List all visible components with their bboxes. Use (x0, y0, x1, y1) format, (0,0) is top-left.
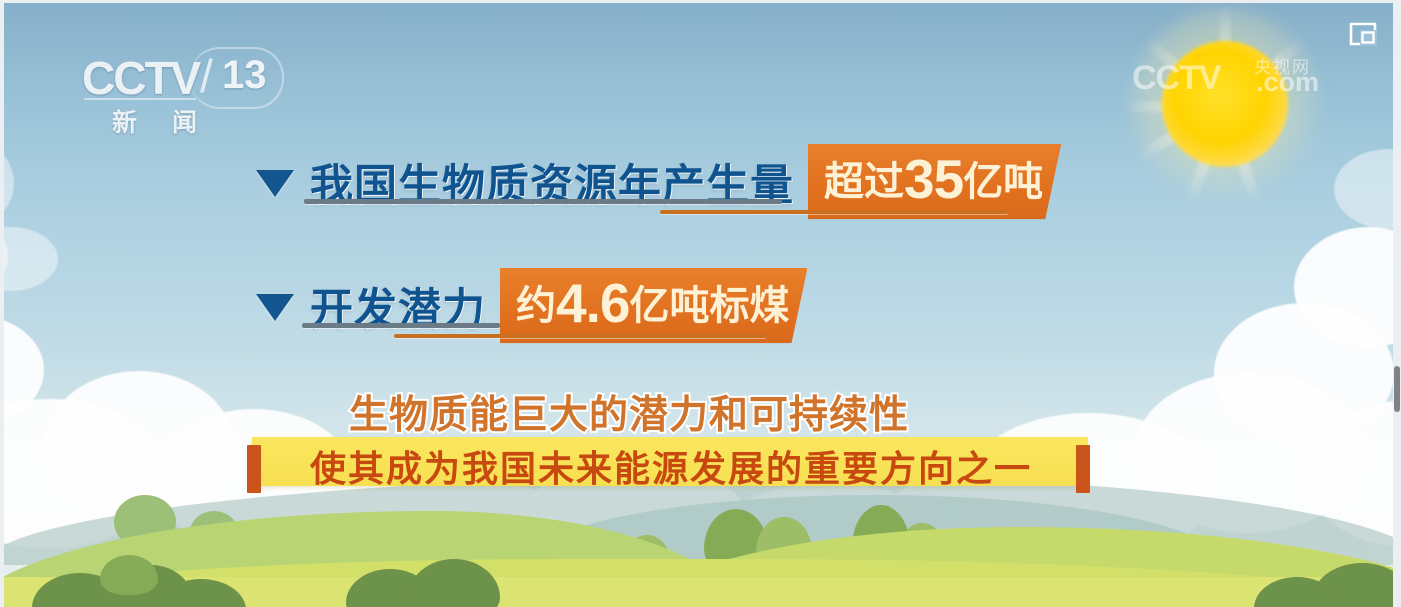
cctv-13-logo: CCTV / 13 新 闻 (82, 51, 282, 141)
cloud-puff (1334, 149, 1397, 229)
vertical-scrollbar-track[interactable] (1393, 0, 1401, 607)
watermark-domain: .com (1256, 67, 1319, 98)
stat-value-number: 4.6 (556, 272, 629, 334)
logo-underline (84, 98, 196, 100)
subheadline-text: 生物质能巨大的潜力和可持续性 (349, 384, 909, 440)
stat-value-chip: 约4.6亿吨标煤 (500, 268, 807, 343)
cloud-puff (4, 131, 14, 235)
bush-shape (100, 555, 158, 595)
cloud-puff (4, 227, 58, 291)
row2-underline-gray (302, 323, 500, 328)
stat-row-2: 开发潜力 约4.6亿吨标煤 (256, 268, 807, 343)
sun-illustration (1122, 13, 1342, 213)
triangle-down-icon (256, 170, 294, 197)
stat-value-prefix: 超过 (824, 160, 904, 204)
stat-row-1: 我国生物质资源年产生量 超过35亿吨 (256, 144, 1061, 219)
vertical-scrollbar-thumb[interactable] (1394, 366, 1400, 412)
watermark-brand: CCTV (1132, 59, 1221, 98)
logo-channel-number: 13 (222, 53, 267, 98)
banner-bar-left (247, 445, 261, 493)
banner-bar-right (1076, 445, 1090, 493)
stat-value-chip: 超过35亿吨 (808, 144, 1061, 219)
logo-brand-text: CCTV (82, 51, 199, 105)
stat-value-prefix: 约 (516, 284, 556, 328)
row1-underline-orange (660, 210, 1008, 214)
stat-value-unit: 亿吨标煤 (629, 284, 789, 328)
triangle-down-icon (256, 294, 294, 321)
cctv-dot-com-watermark: CCTV 央视网 .com (1132, 55, 1344, 101)
row1-underline-gray (304, 199, 782, 204)
stat-value-number: 35 (904, 148, 963, 210)
logo-subtitle: 新 闻 (112, 103, 211, 139)
stat-value-unit: 亿吨 (963, 160, 1043, 204)
logo-slash: / (200, 49, 213, 103)
row2-underline-orange (394, 334, 766, 338)
screenshot-root: CCTV / 13 新 闻 CCTV 央视网 .com 我国生物质资源年产生量 (0, 0, 1401, 607)
video-player-surface[interactable]: CCTV / 13 新 闻 CCTV 央视网 .com 我国生物质资源年产生量 (4, 3, 1397, 607)
picture-in-picture-icon[interactable] (1348, 21, 1378, 47)
banner-text: 使其成为我国未来能源发展的重要方向之一 (286, 440, 1056, 492)
